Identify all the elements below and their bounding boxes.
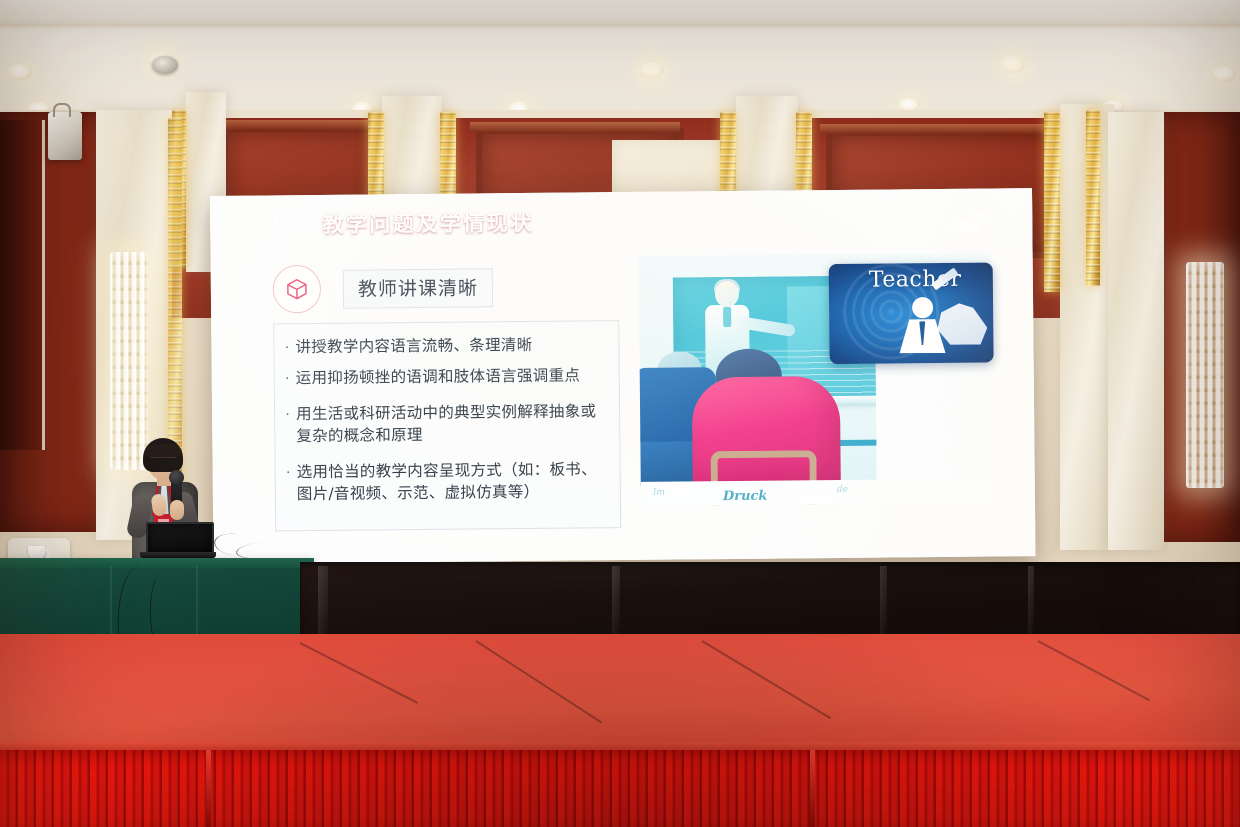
- ceiling-cove-edge: [0, 24, 1240, 29]
- eyeglasses-icon: [150, 457, 176, 465]
- wall-panel-trim: [470, 122, 680, 132]
- teacher-graphic-card: Teacher: [829, 262, 994, 364]
- ceiling-downlight: [640, 62, 664, 78]
- wall-panel-trim: [216, 120, 380, 130]
- slide-title: 教学问题及学情现状: [322, 207, 534, 239]
- cube-icon: [273, 265, 321, 313]
- skirt-panel-seam: [810, 750, 815, 827]
- bullet-marker: ·: [285, 403, 290, 424]
- photo-handwriting-strip: Im Druck de: [641, 478, 993, 505]
- list-item: · 运用抑扬顿挫的语调和肢体语言强调重点: [285, 364, 609, 389]
- ceiling-speaker-icon: [152, 56, 178, 74]
- table-top-edge: [0, 558, 314, 568]
- handwriting-text: de: [837, 485, 848, 495]
- ceiling-downlight: [1000, 56, 1025, 73]
- bullet-list-box: · 讲授教学内容语言流畅、条理清晰 · 运用抑扬顿挫的语调和肢体语言强调重点 ·…: [273, 320, 621, 531]
- university-crest-icon: [274, 207, 308, 241]
- bullet-text: 用生活或科研活动中的典型实例解释抽象或复杂的概念和原理: [296, 400, 609, 447]
- skirt-panel-seam: [206, 750, 211, 827]
- bullet-text: 运用抑扬顿挫的语调和肢体语言强调重点: [296, 364, 581, 389]
- wall-speaker-icon: [48, 112, 82, 160]
- gold-mosaic-strip: [1044, 112, 1060, 292]
- section-label-row: 教师讲课清晰: [273, 263, 493, 313]
- projection-screen: 教学问题及学情现状 教师讲课清晰: [210, 188, 1035, 564]
- bullet-marker: ·: [284, 336, 289, 357]
- handwriting-text: Druck: [723, 489, 768, 504]
- bullet-text: 讲授教学内容语言流畅、条理清晰: [295, 334, 532, 358]
- list-item: · 选用恰当的教学内容呈现方式（如：板书、图片/音视频、示范、虚拟仿真等）: [286, 458, 610, 505]
- wall-panel-trim: [820, 124, 1072, 134]
- stone-column-right-inner: [1108, 112, 1164, 550]
- dark-glossy-backdrop-panel: [300, 562, 1240, 642]
- presentation-photo-scene: 教学问题及学情现状 教师讲课清晰: [0, 0, 1240, 827]
- wall-door-left: [0, 120, 45, 450]
- ceiling-downlight: [8, 64, 32, 80]
- backdrop-sheen: [880, 566, 887, 636]
- bullet-marker: ·: [286, 461, 291, 482]
- slide-header-bar: 教学问题及学情现状: [210, 196, 1032, 246]
- section-label-box: 教师讲课清晰: [343, 268, 493, 308]
- section-label-text: 教师讲课清晰: [358, 273, 478, 301]
- backdrop-sheen: [1028, 566, 1034, 634]
- bullet-marker: ·: [285, 367, 290, 388]
- list-item: · 用生活或科研活动中的典型实例解释抽象或复杂的概念和原理: [285, 400, 609, 447]
- list-item: · 讲授教学内容语言流畅、条理清晰: [284, 333, 608, 358]
- crystal-wall-sconce-right: [1186, 262, 1224, 488]
- presenter-laptop: [140, 522, 216, 558]
- gold-mosaic-strip: [1086, 110, 1100, 286]
- pleated-red-stage-skirt: [0, 750, 1240, 827]
- backdrop-sheen: [612, 566, 620, 636]
- ceiling-cove-molding: [0, 0, 1240, 26]
- ceiling-downlight: [1212, 66, 1236, 82]
- bullet-text: 选用恰当的教学内容呈现方式（如：板书、图片/音视频、示范、虚拟仿真等）: [297, 458, 610, 505]
- presentation-slide: 教学问题及学情现状 教师讲课清晰: [210, 188, 1035, 564]
- backdrop-sheen: [318, 566, 328, 638]
- red-carpet-stage: [0, 634, 1240, 750]
- handwriting-text: Im: [653, 488, 665, 498]
